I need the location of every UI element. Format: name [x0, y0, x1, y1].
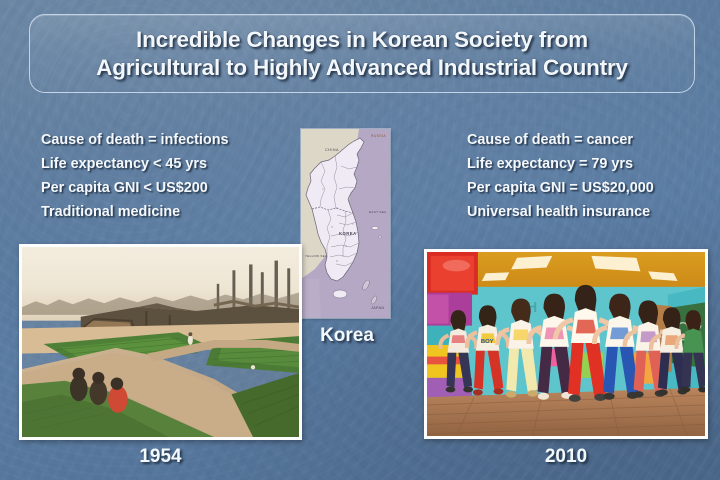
map-label-japan: JAPAN	[371, 306, 384, 310]
map-caption: Korea	[301, 325, 393, 347]
left-fact-life-expectancy: Life expectancy < 45 yrs	[41, 152, 229, 176]
left-fact-medicine: Traditional medicine	[41, 200, 229, 224]
right-fact-per-capita-gni: Per capita GNI = US$20,000	[467, 176, 654, 200]
photo-2010: CH O O M	[424, 249, 708, 439]
photo-2010-caption: 2010	[424, 446, 708, 468]
map-label-east-sea: EAST SEA	[369, 210, 387, 214]
slide-title-line-2: Agricultural to Highly Advanced Industri…	[96, 54, 628, 82]
map-label-china: CHINA	[325, 148, 339, 152]
photo-1954-caption: 1954	[19, 446, 302, 468]
slide-title-box: Incredible Changes in Korean Society fro…	[29, 14, 695, 93]
photo-1954-illustration	[22, 247, 299, 437]
left-facts-list: Cause of death = infections Life expecta…	[41, 128, 229, 224]
right-facts-list: Cause of death = cancer Life expectancy …	[467, 128, 654, 224]
slide-canvas: Incredible Changes in Korean Society fro…	[0, 0, 720, 480]
photo-1954	[19, 244, 302, 440]
map-label-yellow-sea: YELLOW SEA	[305, 254, 327, 258]
right-fact-insurance: Universal health insurance	[467, 200, 654, 224]
map-label-russia: RUSSIA	[371, 134, 386, 138]
map-label-korea: KOREA	[339, 231, 357, 236]
slide-title-line-1: Incredible Changes in Korean Society fro…	[136, 26, 588, 54]
left-fact-cause-of-death: Cause of death = infections	[41, 128, 229, 152]
left-fact-per-capita-gni: Per capita GNI < US$200	[41, 176, 229, 200]
right-fact-cause-of-death: Cause of death = cancer	[467, 128, 654, 152]
photo-2010-illustration: CH O O M	[427, 252, 705, 436]
korea-map-image: CHINA RUSSIA JAPAN EAST SEA YELLOW SEA K…	[301, 129, 390, 318]
korea-map-svg: CHINA RUSSIA JAPAN EAST SEA YELLOW SEA K…	[301, 129, 390, 318]
right-fact-life-expectancy: Life expectancy = 79 yrs	[467, 152, 654, 176]
